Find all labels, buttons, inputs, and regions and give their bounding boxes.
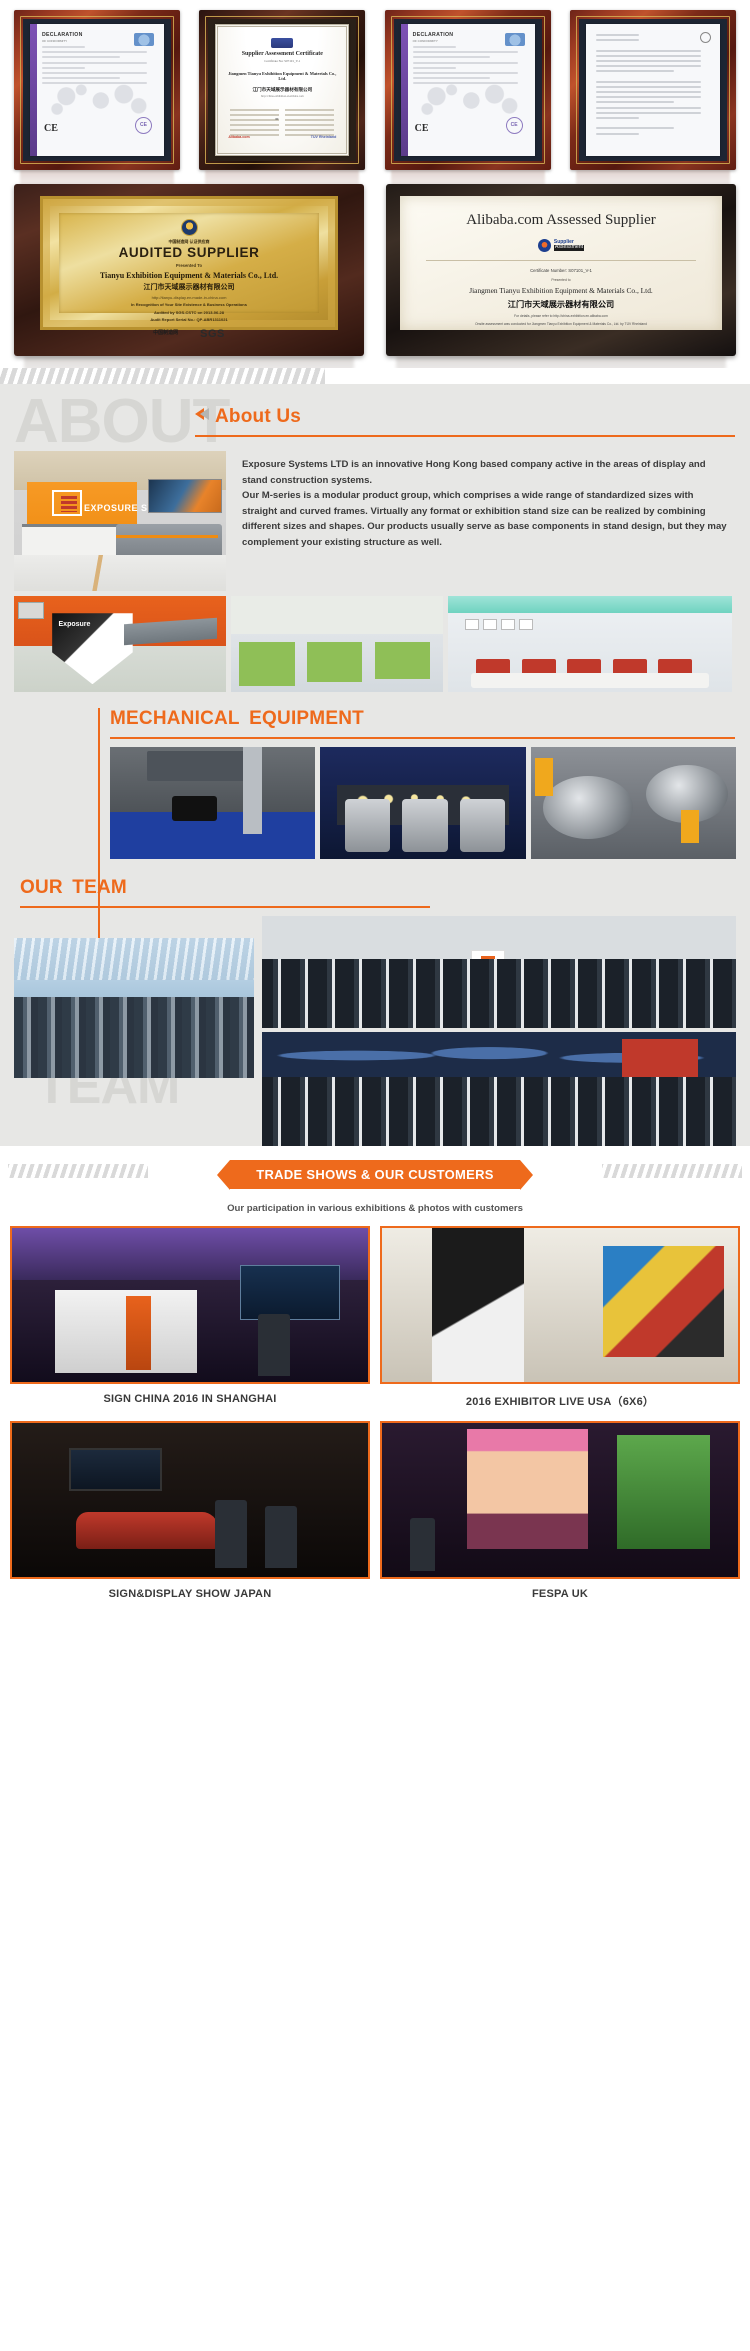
photo-machine-column <box>243 747 261 834</box>
alibaba-logo-icon: Alibaba.com <box>228 135 249 139</box>
mechanical-photo-parts[interactable] <box>320 747 525 859</box>
about-photo-reception[interactable]: E X P O S U R E EXPOSURE SYSTEMS LTD <box>14 451 226 591</box>
trade-shows-banner: TRADE SHOWS & OUR CUSTOMERS <box>230 1160 520 1189</box>
sgs-logo-icon: SGS <box>200 328 225 340</box>
plaque-company-en: Tianyu Exhibition Equipment & Materials … <box>59 271 319 280</box>
trade-show-caption: 2016 EXHIBITOR LIVE USA（6X6） <box>380 1384 740 1413</box>
certificate-document <box>586 24 720 156</box>
certificate-row-bottom: 中国制造网 认证供应商 AUDITED SUPPLIER Presented T… <box>0 170 750 356</box>
team-heading-light: TEAM <box>72 877 127 899</box>
certificate-document: Supplier Assessment Certificate Certific… <box>215 24 349 156</box>
certificate-frame-letter[interactable] <box>570 10 736 170</box>
mechanical-photo-laser[interactable] <box>110 747 315 859</box>
certificate-number: Certificate No: S07101_V-1 <box>226 59 338 63</box>
ce-logo-icon <box>134 33 154 46</box>
trade-show-caption: FESPA UK <box>380 1579 740 1604</box>
supplier-assessment-logo-icon <box>271 38 293 48</box>
plaque-title: AUDITED SUPPLIER <box>59 245 319 260</box>
photo-office-wall <box>231 596 443 634</box>
certificate-frame-supplier-assessment[interactable]: Supplier Assessment Certificate Certific… <box>199 10 365 170</box>
arrow-left-secondary-icon <box>200 408 209 420</box>
photo-visitor <box>265 1506 297 1568</box>
certificate-title: DECLARATION <box>413 32 454 38</box>
photo-cubicle <box>239 642 294 686</box>
trade-show-photo[interactable] <box>380 1421 740 1579</box>
plaque-certificate-paper: Alibaba.com Assessed Supplier Supplier A… <box>400 196 722 330</box>
hatch-stripes <box>0 368 325 384</box>
plaque-logo-row: 中国制造网 SGS <box>59 328 319 340</box>
made-in-china-logo-icon: 中国制造网 <box>153 331 178 336</box>
made-in-china-emblem-icon <box>181 219 198 236</box>
photo-floor <box>14 555 226 591</box>
letter-body-lines <box>596 34 710 138</box>
photo-machined-part <box>345 799 390 853</box>
mechanical-heading-strong: MECHANICAL <box>110 708 240 730</box>
certificate-company-cn: 江门市天域展示器材有限公司 <box>226 87 338 93</box>
photo-window <box>18 602 43 619</box>
photo-reception-desk <box>116 524 222 555</box>
about-paragraph-1: Exposure Systems LTD is an innovative Ho… <box>242 457 730 488</box>
photo-group <box>262 1077 736 1150</box>
plaque-serial: Audit Report Serial No.: QP-ABR1311021 <box>59 317 319 322</box>
photo-group <box>14 997 254 1078</box>
photo-floor-inlay <box>78 555 116 591</box>
photo-safety-guard <box>681 810 699 844</box>
about-photo-meeting-room[interactable] <box>448 596 732 692</box>
about-heading-text: About Us <box>215 406 301 428</box>
trade-shows-grid: SIGN CHINA 2016 IN SHANGHAI 2016 EXHIBIT… <box>0 1214 750 1604</box>
hatch-divider-top <box>0 368 750 384</box>
supplier-assessment-seal-icon: Supplier Assessment <box>400 239 722 252</box>
certificates-section: DECLARATION OF CONFORMITY CE CE <box>0 0 750 368</box>
plaque-company-en: Jiangmen Tianyu Exhibition Equipment & M… <box>400 286 722 295</box>
about-panel: ABOUT About Us E X P O S U R E EXPOSURE … <box>0 384 750 1146</box>
certificate-title: DECLARATION <box>42 32 83 38</box>
ce-mark: CE <box>44 123 58 134</box>
certificate-stamp: CE <box>506 117 523 134</box>
photo-portrait-graphic <box>467 1429 588 1549</box>
plaque-cert-number: Certificate Number: S07101_V-1 <box>400 268 722 273</box>
team-heading-strong: OUR <box>20 877 63 899</box>
photo-booth-graphic <box>432 1228 525 1382</box>
plaque-recognition: In Recognition of Your Site Existence & … <box>59 302 319 307</box>
made-in-china-logo-cn: 中国制造网 <box>153 331 178 336</box>
about-photo-building[interactable]: Exposure <box>14 596 226 692</box>
trade-show-item[interactable]: FESPA UK <box>380 1421 740 1604</box>
team-photo-factory[interactable] <box>14 938 254 1078</box>
certificate-url: http://china-exhibition.en.alibaba.com <box>226 95 338 98</box>
photo-car-display <box>76 1512 218 1549</box>
paper-accent-bar <box>401 24 408 156</box>
plaque-onsite-line: Onsite assessment was conducted for Jian… <box>400 322 722 326</box>
trade-show-caption: SIGN CHINA 2016 IN SHANGHAI <box>10 1384 370 1409</box>
photo-screen <box>240 1265 340 1320</box>
ce-logo-icon <box>505 33 525 46</box>
photo-meeting-table <box>471 673 710 688</box>
team-photo-exhibition[interactable] <box>262 1032 736 1150</box>
mechanical-photo-row <box>0 739 750 859</box>
photo-cabinets <box>22 524 120 558</box>
trade-show-photo[interactable] <box>10 1226 370 1384</box>
mechanical-heading-light: EQUIPMENT <box>249 708 364 730</box>
photo-laser-head <box>147 751 246 780</box>
product-detail-page: DECLARATION OF CONFORMITY CE CE <box>0 0 750 1622</box>
photo-laser-lens <box>172 796 217 821</box>
photo-visitor <box>410 1518 435 1570</box>
seal-circle-icon <box>538 239 551 252</box>
certificate-stamp: CE <box>135 117 152 134</box>
about-heading-rule <box>195 435 735 437</box>
certificate-document: DECLARATION OF CONFORMITY CE CE <box>30 24 164 156</box>
certificate-subtitle: OF CONFORMITY <box>42 39 67 43</box>
photo-tower-graphic <box>126 1296 151 1370</box>
team-photo-grid <box>0 908 750 1128</box>
plaque-alibaba-assessed-supplier[interactable]: Alibaba.com Assessed Supplier Supplier A… <box>386 184 736 356</box>
exposure-logo-bars-icon <box>61 496 77 512</box>
plaque-detail-line: For details, please refer to http://chin… <box>400 314 722 318</box>
photo-display-screen <box>148 479 222 513</box>
plaque-gold-plate: 中国制造网 认证供应商 AUDITED SUPPLIER Presented T… <box>59 213 319 313</box>
tuv-logo-icon: TUV Rheinland <box>311 135 337 139</box>
photo-visitor <box>258 1314 290 1376</box>
trade-show-photo[interactable] <box>10 1421 370 1579</box>
photo-building-sign: Exposure <box>59 621 91 628</box>
photo-machined-part <box>402 799 447 853</box>
plaque-presented-label: Presented to <box>400 278 722 282</box>
certificate-frame-declaration-1[interactable]: DECLARATION OF CONFORMITY CE CE <box>14 10 180 170</box>
about-content-row: E X P O S U R E EXPOSURE SYSTEMS LTD Exp… <box>0 437 750 591</box>
about-paragraph-2: Our M-series is a modular product group,… <box>242 488 730 550</box>
certificate-row-top: DECLARATION OF CONFORMITY CE CE <box>0 10 750 170</box>
certificate-company-en: Jiangmen Tianyu Exhibition Equipment & M… <box>226 71 338 81</box>
team-heading: OUR TEAM <box>20 877 720 908</box>
photo-machined-part <box>460 799 505 853</box>
seal-text: Supplier Assessment <box>554 240 584 251</box>
photo-cubicle <box>307 642 362 682</box>
plaque-audited-by: Audited by SGS-CSTC on 2013-06-28 <box>59 310 319 315</box>
photo-group <box>262 959 736 1028</box>
photo-ceiling-light <box>448 596 732 613</box>
trade-show-photo[interactable] <box>380 1226 740 1384</box>
photo-banner-red <box>622 1039 698 1079</box>
plaque-company-cn: 江门市天域展示器材有限公司 <box>59 282 319 292</box>
photo-green-graphic <box>617 1435 710 1549</box>
plaque-presented-label: Presented To <box>59 263 319 268</box>
plaque-divider <box>426 260 696 261</box>
photo-visitor <box>215 1500 247 1568</box>
photo-roller <box>543 776 633 839</box>
trade-shows-section: TRADE SHOWS & OUR CUSTOMERS Our particip… <box>0 1146 750 1622</box>
certificate-document: DECLARATION OF CONFORMITY CE CE <box>401 24 535 156</box>
certificate-title: Supplier Assessment Certificate <box>226 51 338 57</box>
certificate-signature <box>269 113 295 123</box>
plaque-url: http://tianyu-display.en.made-in-china.c… <box>59 295 319 300</box>
mechanical-photo-press[interactable] <box>531 747 736 859</box>
plaque-gold-bezel: 中国制造网 认证供应商 AUDITED SUPPLIER Presented T… <box>40 196 338 330</box>
photo-cubicle <box>375 642 430 678</box>
hatch-divider-left <box>8 1164 148 1178</box>
trade-show-item[interactable]: SIGN CHINA 2016 IN SHANGHAI <box>10 1226 370 1413</box>
certificate-subtitle: OF CONFORMITY <box>413 39 438 43</box>
about-photo-row: Exposure <box>0 591 750 692</box>
photo-wall-certificates <box>465 619 533 630</box>
photo-safety-guard <box>535 758 553 796</box>
team-photo-sales[interactable] <box>262 916 736 1028</box>
hatch-divider-right <box>602 1164 742 1178</box>
photo-tv-screen <box>69 1448 162 1491</box>
about-photo-office[interactable] <box>231 596 443 692</box>
plaque-title: Alibaba.com Assessed Supplier <box>400 212 722 229</box>
seal-line-2: Assessment <box>554 245 584 250</box>
photo-art-panel <box>603 1246 724 1357</box>
trade-show-item[interactable]: 2016 EXHIBITOR LIVE USA（6X6） <box>380 1226 740 1413</box>
paper-accent-bar <box>30 24 37 156</box>
certificate-frame-declaration-2[interactable]: DECLARATION OF CONFORMITY CE CE <box>385 10 551 170</box>
about-description: Exposure Systems LTD is an innovative Ho… <box>226 451 736 591</box>
about-section: ABOUT About Us E X P O S U R E EXPOSURE … <box>0 368 750 1146</box>
trade-show-item[interactable]: SIGN&DISPLAY SHOW JAPAN <box>10 1421 370 1604</box>
mechanical-heading-rule <box>110 737 735 739</box>
trade-shows-subtitle: Our participation in various exhibitions… <box>0 1203 750 1214</box>
photo-roof <box>14 938 254 980</box>
mechanical-heading: MECHANICAL EQUIPMENT <box>110 708 735 739</box>
photo-desk-stripe <box>116 535 218 538</box>
team-section: TEAM OUR TEAM <box>0 859 750 1128</box>
mechanical-section: MECHANICAL EQUIPMENT <box>0 692 750 859</box>
trade-show-caption: SIGN&DISPLAY SHOW JAPAN <box>10 1579 370 1604</box>
about-heading: About Us <box>195 384 735 437</box>
plaque-audited-supplier[interactable]: 中国制造网 认证供应商 AUDITED SUPPLIER Presented T… <box>14 184 364 356</box>
ce-mark: CE <box>415 123 429 134</box>
plaque-company-cn: 江门市天域展示器材有限公司 <box>400 298 722 310</box>
